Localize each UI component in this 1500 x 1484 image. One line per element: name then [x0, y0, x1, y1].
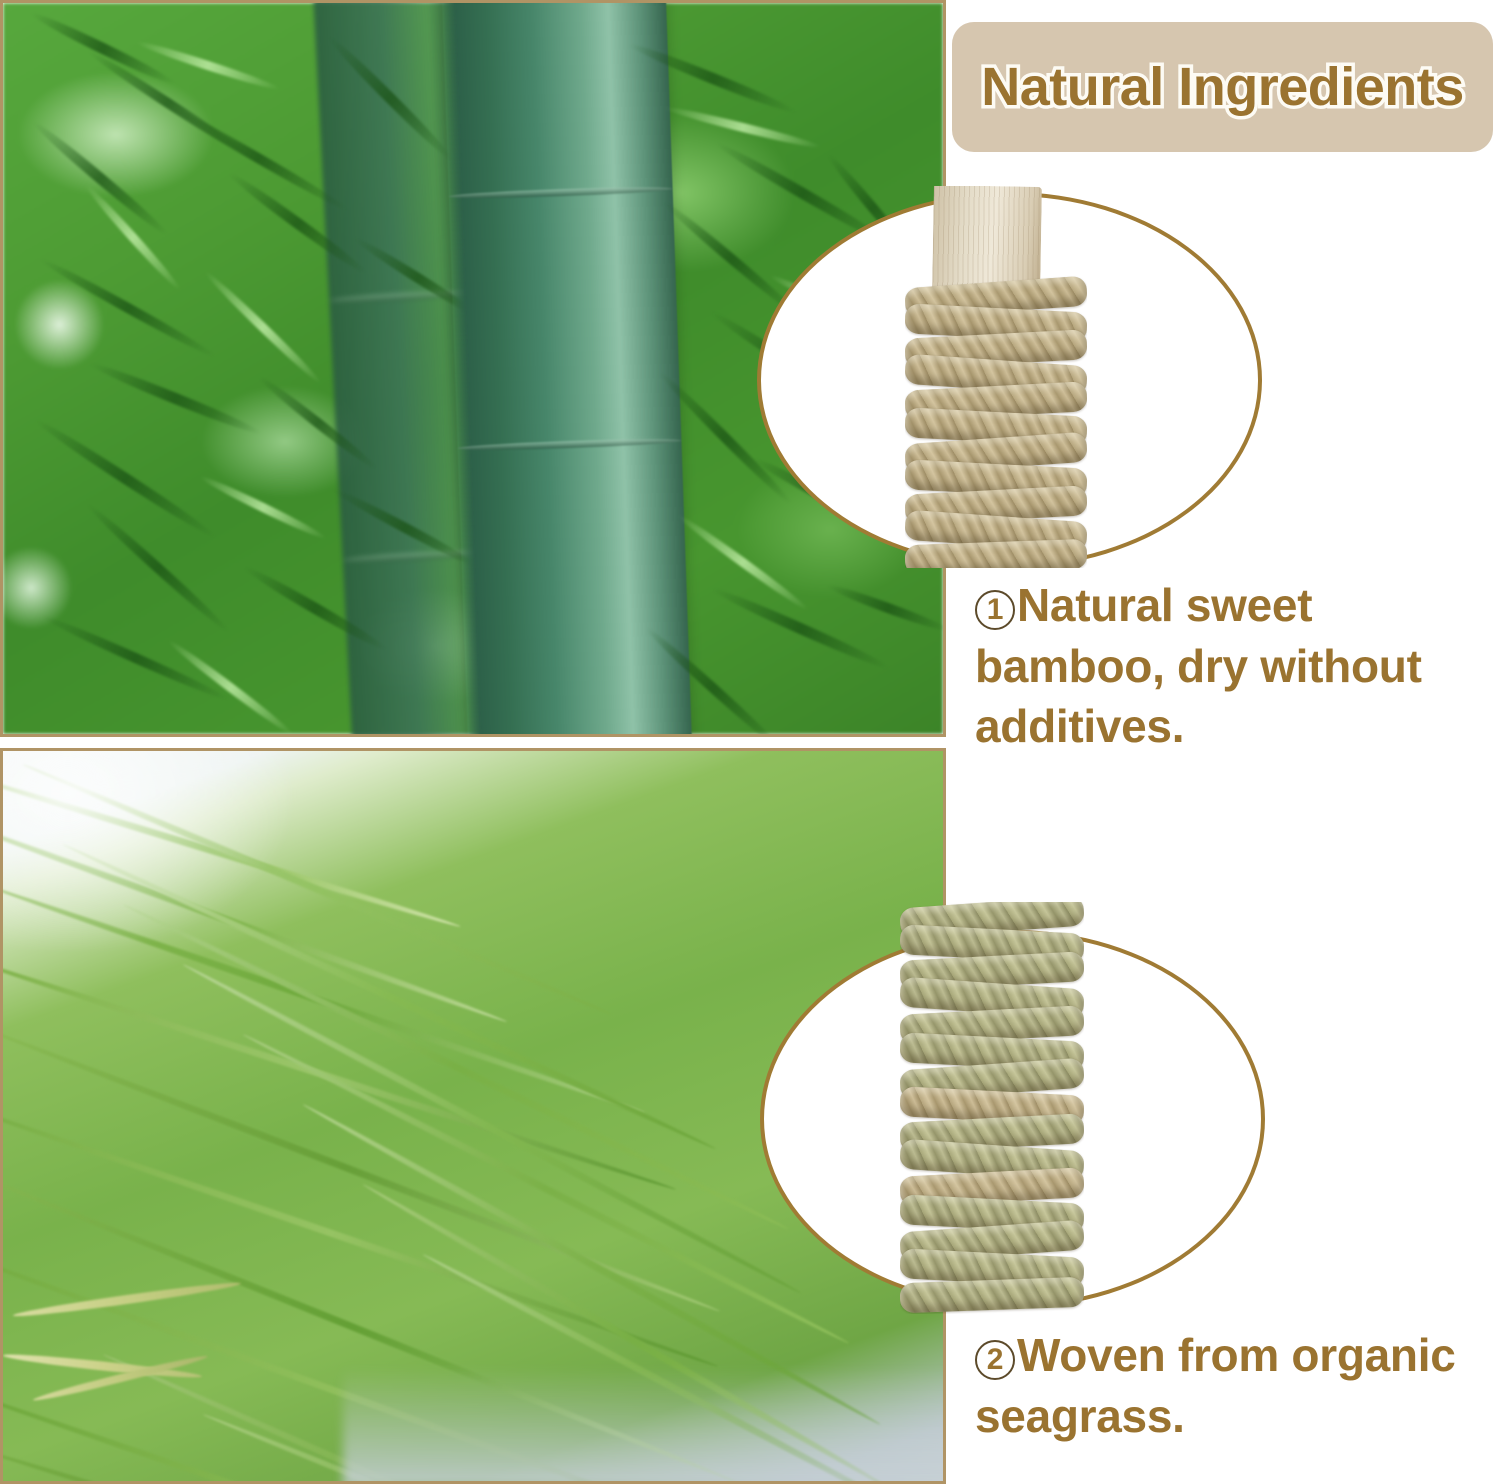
- bamboo-stick-woven-detail: [905, 186, 1087, 568]
- feature-caption-1: 1Natural sweet bamboo, dry without addit…: [975, 575, 1495, 757]
- product-infographic: Natural Ingredients 1Natu: [0, 0, 1500, 1484]
- title-banner: Natural Ingredients: [952, 22, 1493, 152]
- feature-number-2: 2: [975, 1340, 1015, 1380]
- bamboo-culm-main: [442, 0, 692, 737]
- feature-caption-2: 2Woven from organic seagrass.: [975, 1325, 1495, 1446]
- bamboo-stick-tip: [932, 186, 1042, 295]
- page-title: Natural Ingredients: [981, 60, 1464, 114]
- seagrass-woven-detail: [900, 902, 1084, 1314]
- feature-text-1: Natural sweet bamboo, dry without additi…: [975, 579, 1422, 752]
- feature-number-1: 1: [975, 590, 1015, 630]
- feature-text-2: Woven from organic seagrass.: [975, 1329, 1455, 1442]
